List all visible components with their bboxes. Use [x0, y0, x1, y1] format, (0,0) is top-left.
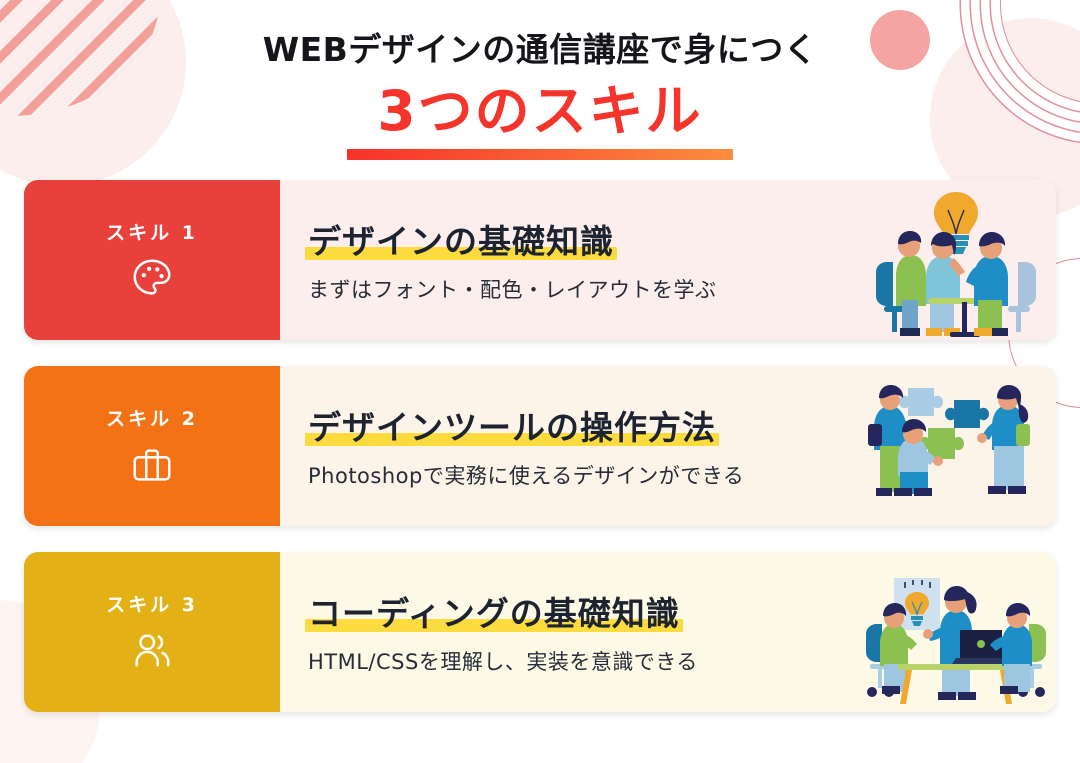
team-laptop-presentation-illustration — [856, 552, 1056, 712]
puzzle-collaboration-illustration — [856, 366, 1056, 526]
skill-2-badge: スキル 2 — [24, 366, 280, 526]
skill-3-title: コーディングの基礎知識 — [308, 594, 680, 633]
header-subtitle: WEBデザインの通信講座で身につく — [0, 30, 1080, 70]
skill-1-body: デザインの基礎知識 まずはフォント・配色・レイアウトを学ぶ — [280, 180, 1056, 340]
skill-card-1[interactable]: スキル 1 デザインの基礎知識 まずはフォント・配色・レイアウトを学ぶ — [24, 180, 1056, 340]
header-title-wrap: 3つのスキル — [377, 80, 702, 143]
skill-3-title-row: コーディングの基礎知識 — [308, 587, 680, 635]
skill-card-3[interactable]: スキル 3 コーディングの基礎知識 HTML/CSSを理解し、実装を意識できる — [24, 552, 1056, 712]
people-icon — [129, 627, 175, 673]
skill-3-text: コーディングの基礎知識 HTML/CSSを理解し、実装を意識できる — [280, 587, 856, 676]
skill-2-title: デザインツールの操作方法 — [308, 408, 716, 447]
skill-1-title: デザインの基礎知識 — [308, 222, 614, 261]
skill-1-text: デザインの基礎知識 まずはフォント・配色・レイアウトを学ぶ — [280, 215, 856, 304]
skill-2-title-row: デザインツールの操作方法 — [308, 401, 716, 449]
skill-1-title-row: デザインの基礎知識 — [308, 215, 614, 263]
skill-3-description: HTML/CSSを理解し、実装を意識できる — [308, 646, 856, 676]
skill-1-description: まずはフォント・配色・レイアウトを学ぶ — [308, 274, 856, 304]
skill-2-text: デザインツールの操作方法 Photoshopで実務に使えるデザインができる — [280, 401, 856, 490]
title-underline-bar — [347, 149, 733, 160]
skill-3-badge: スキル 3 — [24, 552, 280, 712]
briefcase-icon — [129, 441, 175, 487]
team-brainstorm-lightbulb-illustration — [856, 180, 1056, 340]
page-header: WEBデザインの通信講座で身につく 3つのスキル — [0, 0, 1080, 160]
skill-2-description: Photoshopで実務に使えるデザインができる — [308, 460, 856, 490]
skill-card-2[interactable]: スキル 2 デザインツールの操作方法 Photoshopで実務に使えるデザインが… — [24, 366, 1056, 526]
skill-3-body: コーディングの基礎知識 HTML/CSSを理解し、実装を意識できる — [280, 552, 1056, 712]
skill-1-level-label: スキル 1 — [106, 218, 198, 245]
skill-2-body: デザインツールの操作方法 Photoshopで実務に使えるデザインができる — [280, 366, 1056, 526]
skill-3-level-label: スキル 3 — [106, 590, 198, 617]
skills-list: スキル 1 デザインの基礎知識 まずはフォント・配色・レイアウトを学ぶ — [0, 180, 1080, 712]
page-title: 3つのスキル — [377, 80, 702, 143]
palette-icon — [129, 255, 175, 301]
skill-2-level-label: スキル 2 — [106, 404, 198, 431]
skill-1-badge: スキル 1 — [24, 180, 280, 340]
